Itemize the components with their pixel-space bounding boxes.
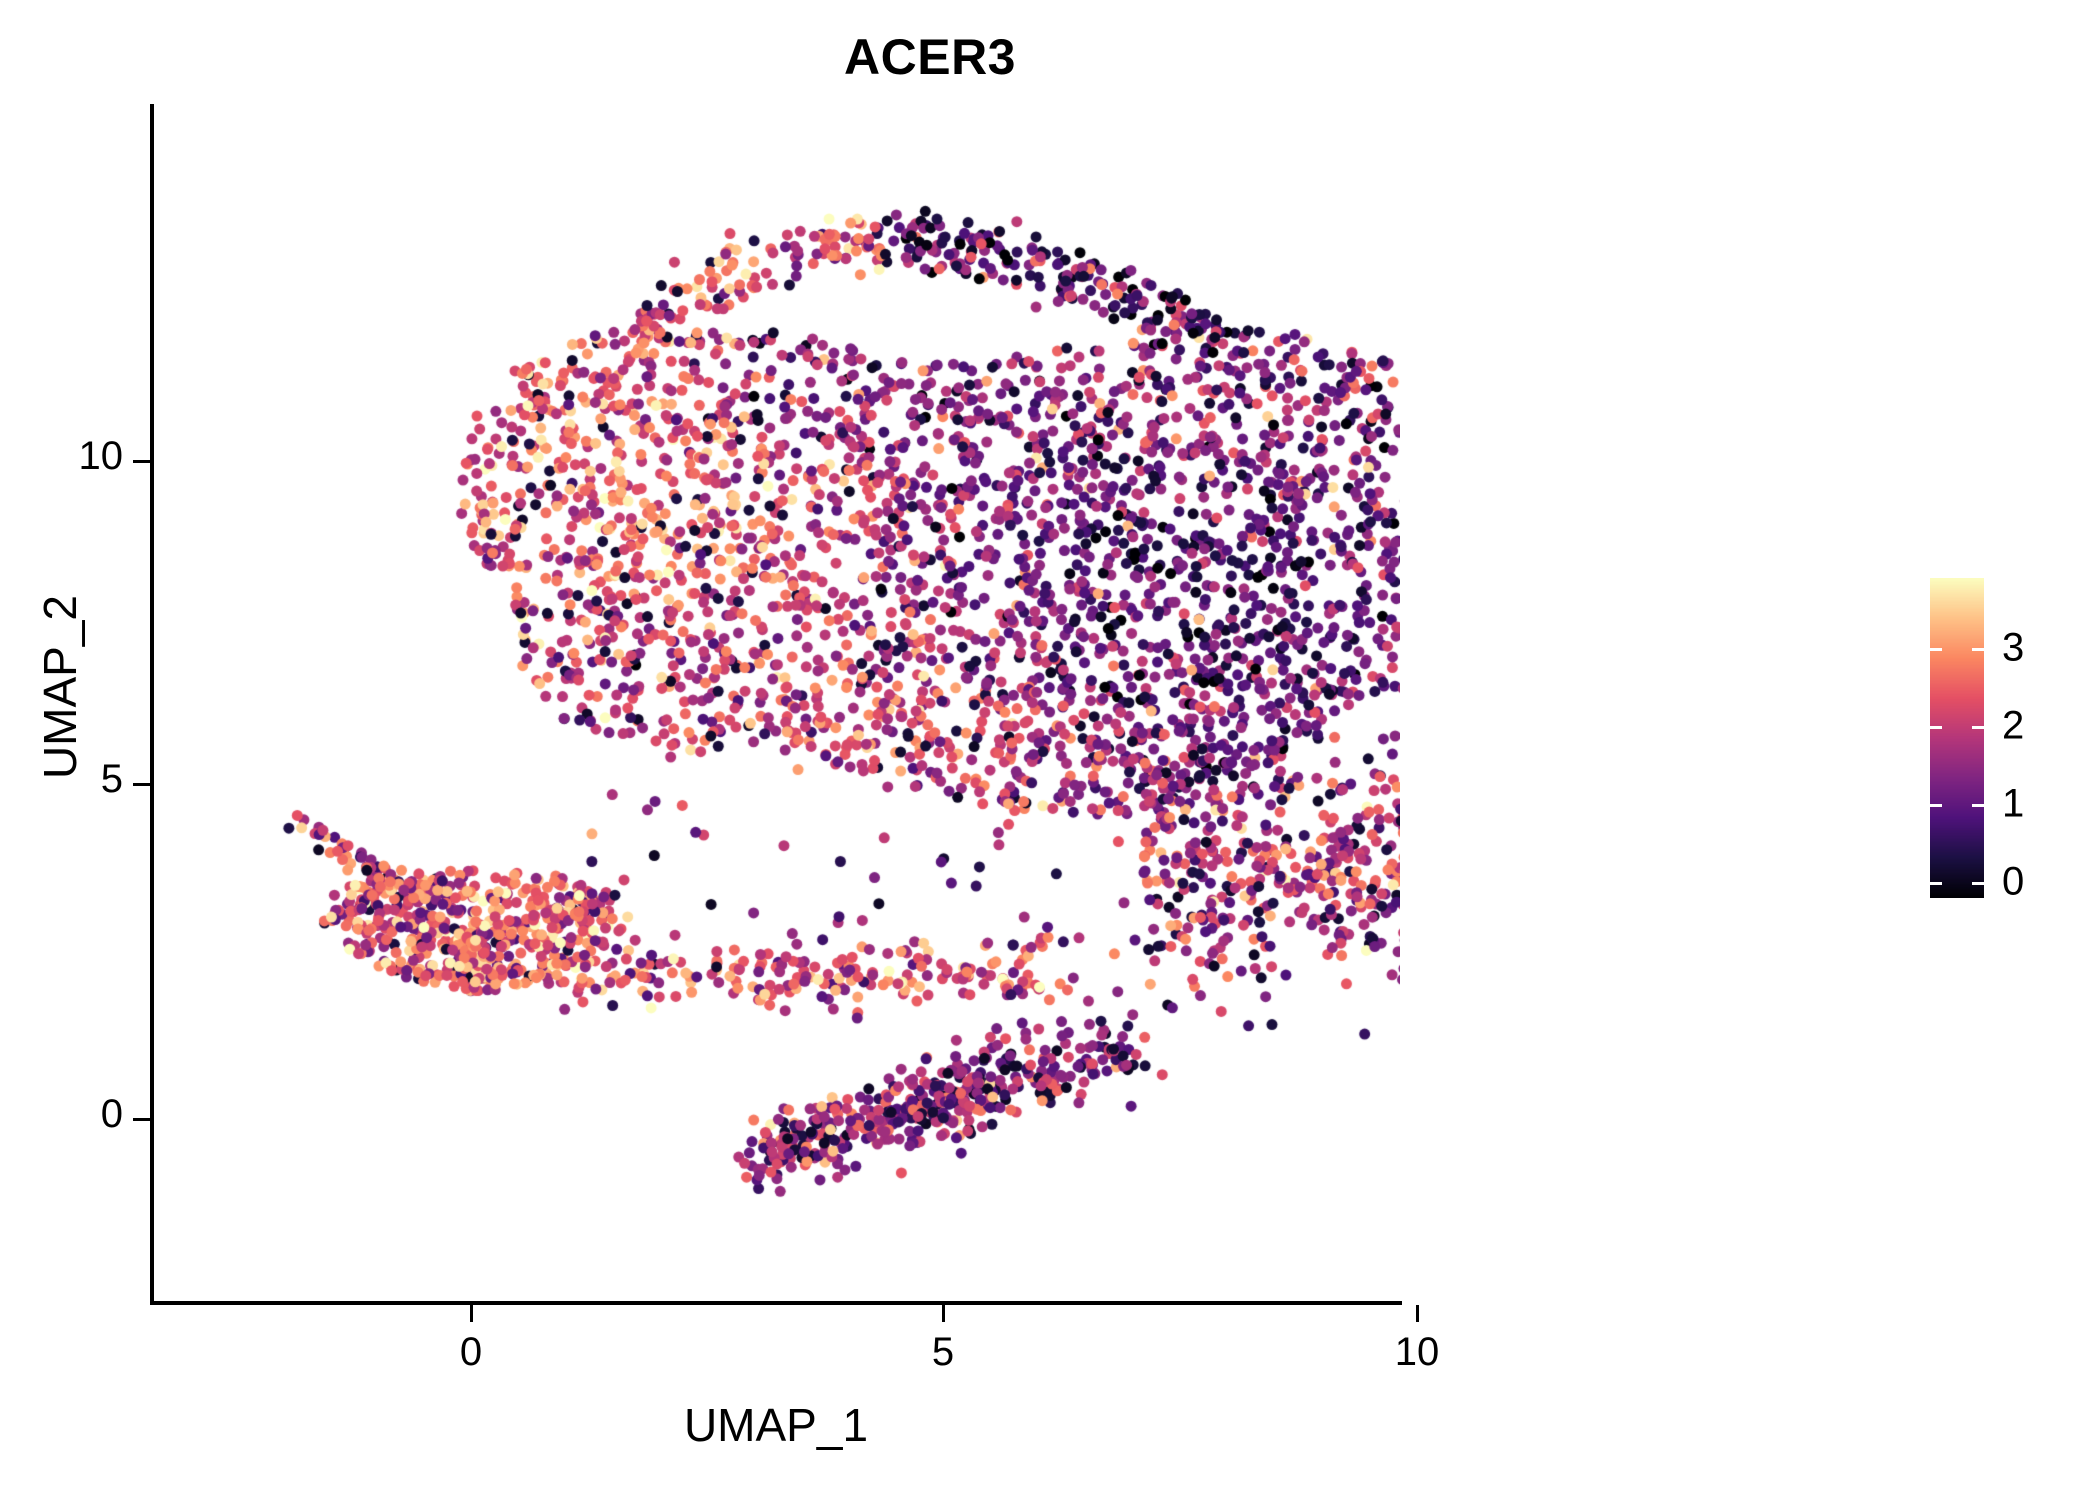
colorbar-label-1: 1 (2002, 782, 2024, 827)
colorbar-tick-3-right (1972, 648, 1984, 651)
colorbar-gradient (1930, 578, 1984, 898)
colorbar-tick-1-right (1972, 804, 1984, 807)
colorbar-tick-0-left (1930, 882, 1942, 885)
colorbar-label-2: 2 (2002, 704, 2024, 749)
y-axis-line (150, 104, 154, 1305)
colorbar-tick-1-left (1930, 804, 1942, 807)
y-axis-title: UMAP_2 (33, 367, 87, 1007)
x-tick-label-5: 5 (883, 1330, 1003, 1375)
x-tick-mark-5 (942, 1305, 945, 1322)
colorbar-label-0: 0 (2002, 860, 2024, 905)
x-tick-label-0: 0 (411, 1330, 531, 1375)
colorbar-tick-2-left (1930, 726, 1942, 729)
y-tick-mark-5 (133, 783, 150, 786)
x-tick-label-10: 10 (1357, 1330, 1477, 1375)
page-title: ACER3 (0, 28, 1860, 86)
y-tick-mark-0 (133, 1118, 150, 1121)
colorbar-tick-0-right (1972, 882, 1984, 885)
scatter-points (152, 104, 1400, 1301)
x-tick-mark-10 (1416, 1305, 1419, 1322)
y-tick-label-0: 0 (13, 1092, 123, 1137)
colorbar-label-3: 3 (2002, 626, 2024, 671)
x-tick-mark-0 (470, 1305, 473, 1322)
colorbar-legend: 3 2 1 0 (1930, 578, 2090, 918)
y-tick-mark-10 (133, 460, 150, 463)
umap-feature-plot: ACER3 10 5 0 0 5 10 UMAP_1 UMAP_2 3 2 1 … (0, 0, 2100, 1500)
x-axis-title: UMAP_1 (152, 1398, 1400, 1452)
colorbar-tick-2-right (1972, 726, 1984, 729)
x-axis-line (150, 1301, 1402, 1305)
colorbar-tick-3-left (1930, 648, 1942, 651)
